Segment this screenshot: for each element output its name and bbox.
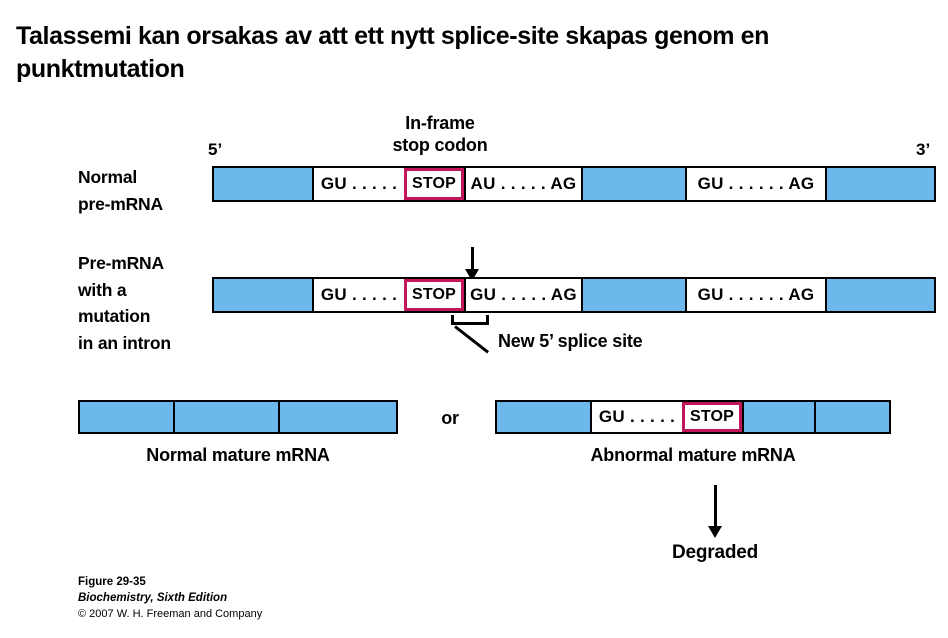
page-title: Talassemi kan orsakas av att ett nytt sp…	[16, 20, 916, 86]
segment-exon	[173, 402, 278, 432]
segment-intron-new-splice: GU . . . . . AG	[464, 279, 581, 311]
segment-exon	[581, 168, 685, 200]
segment-stop-codon: STOP	[404, 168, 464, 200]
row-label-line: pre-mRNA	[78, 191, 208, 218]
segment-exon	[742, 402, 814, 432]
segment-exon	[497, 402, 590, 432]
segment-intron: GU . . . . .	[312, 279, 404, 311]
segment-exon	[278, 402, 396, 432]
degraded-arrow-shaft	[714, 485, 717, 528]
mrna-bar-mutant-pre-mrna: GU . . . . . STOP GU . . . . . AG GU . .…	[212, 277, 936, 313]
figure-number: Figure 29-35	[78, 574, 262, 590]
segment-stop-codon: STOP	[404, 279, 464, 311]
segment-exon	[581, 279, 685, 311]
row-label-line: mutation	[78, 303, 228, 330]
segment-intron: GU . . . . . . AG	[685, 279, 825, 311]
row-label-mutant-pre-mrna: Pre-mRNA with a mutation in an intron	[78, 250, 228, 356]
five-prime-label-row1: 5’	[208, 140, 222, 160]
row-label-line: Pre-mRNA	[78, 250, 228, 277]
or-separator: or	[420, 408, 480, 430]
figure-book-title: Biochemistry, Sixth Edition	[78, 590, 262, 606]
segment-stop-codon: STOP	[682, 402, 742, 432]
in-frame-stop-codon-line2: stop codon	[345, 135, 535, 157]
mrna-bar-abnormal-mature-mrna: GU . . . . . STOP	[495, 400, 891, 434]
segment-exon	[814, 402, 889, 432]
row-label-line: with a	[78, 277, 228, 304]
figure-caption: Figure 29-35 Biochemistry, Sixth Edition…	[78, 574, 262, 623]
mrna-bar-normal-mature-mrna	[78, 400, 398, 434]
new-splice-site-label: New 5’ splice site	[498, 331, 728, 353]
normal-mature-mrna-caption: Normal mature mRNA	[78, 445, 398, 467]
degraded-arrow-head	[708, 526, 722, 538]
row-label-line: Normal	[78, 164, 208, 191]
figure-copyright: © 2007 W. H. Freeman and Company	[78, 607, 262, 623]
degraded-label: Degraded	[615, 541, 815, 564]
row-label-normal-pre-mrna: Normal pre-mRNA	[78, 164, 208, 217]
segment-exon	[825, 168, 934, 200]
in-frame-stop-codon-line1: In-frame	[345, 113, 535, 135]
segment-intron: GU . . . . . . AG	[685, 168, 825, 200]
segment-exon	[214, 168, 312, 200]
new-splice-site-bracket	[451, 315, 489, 325]
row-label-line: in an intron	[78, 330, 228, 357]
segment-intron: GU . . . . .	[590, 402, 682, 432]
segment-exon	[825, 279, 934, 311]
in-frame-stop-codon-callout: In-frame stop codon	[345, 113, 535, 157]
segment-intron: AU . . . . . AG	[464, 168, 581, 200]
new-splice-site-leader-line	[454, 325, 489, 353]
mutation-arrow-shaft	[471, 247, 474, 271]
mrna-bar-normal-pre-mrna: GU . . . . . STOP AU . . . . . AG GU . .…	[212, 166, 936, 202]
segment-exon	[214, 279, 312, 311]
segment-intron: GU . . . . .	[312, 168, 404, 200]
segment-exon	[80, 402, 173, 432]
three-prime-label-row1: 3’	[916, 140, 930, 160]
abnormal-mature-mrna-caption: Abnormal mature mRNA	[495, 445, 891, 467]
